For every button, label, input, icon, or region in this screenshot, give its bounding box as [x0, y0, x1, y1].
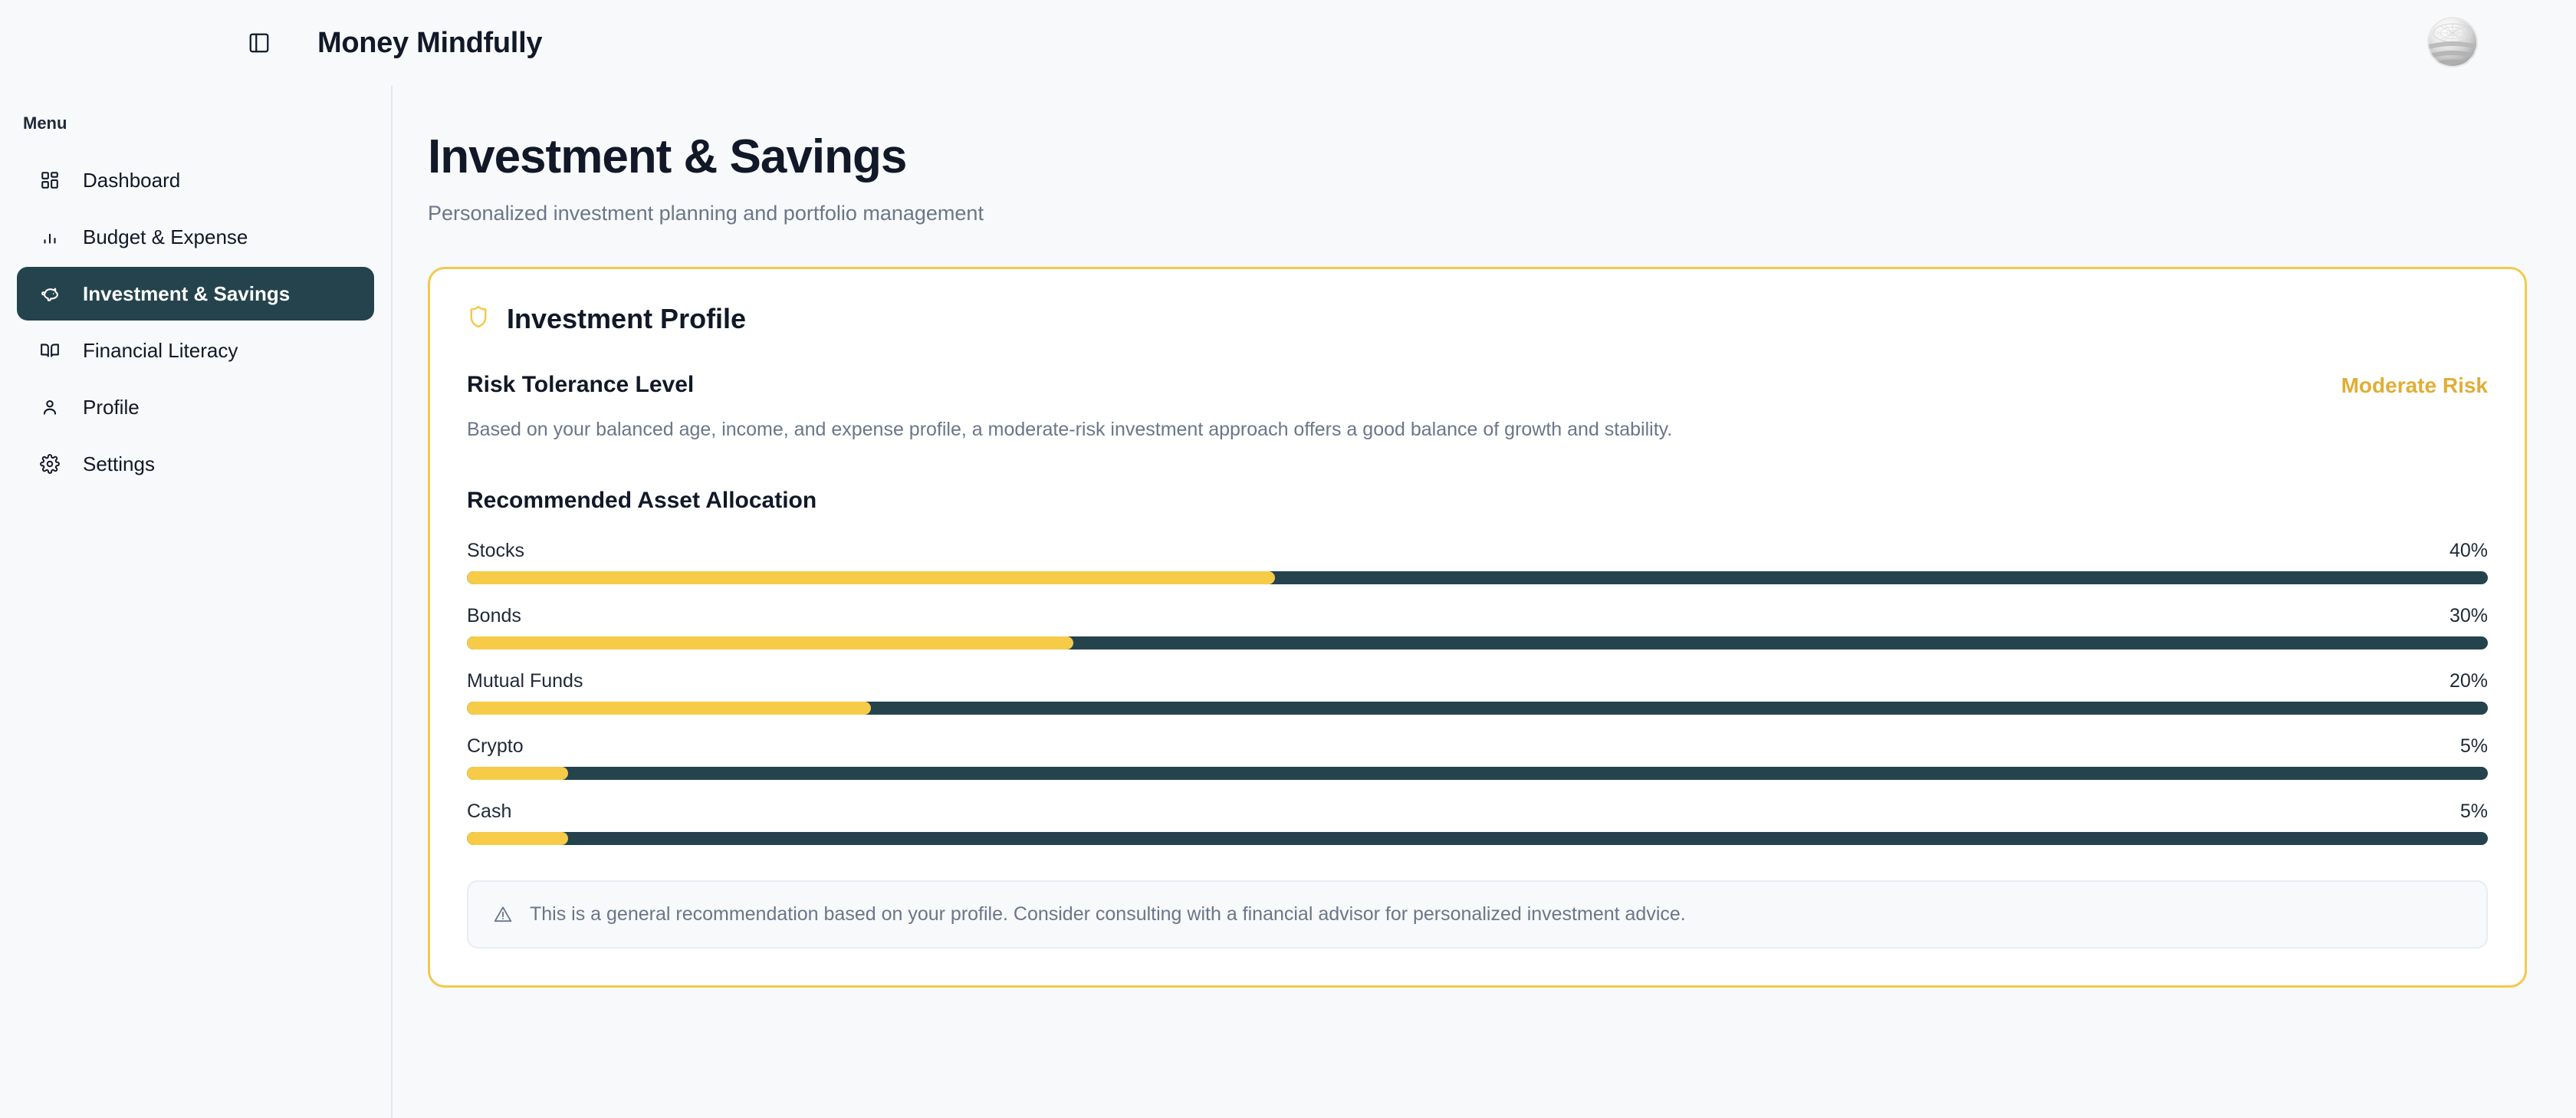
allocation-percent: 30% — [2449, 605, 2488, 627]
allocation-bar-track — [467, 702, 2488, 715]
sidebar-item-label: Dashboard — [83, 169, 180, 192]
allocation-bar-track — [467, 767, 2488, 780]
risk-level-badge: Moderate Risk — [2341, 372, 2488, 398]
asset-allocation-list: Stocks 40% Bonds 30% Mutual Funds — [467, 540, 2488, 845]
top-bar: Money Mindfully — [0, 0, 2576, 86]
sidebar-item-settings[interactable]: Settings — [17, 437, 374, 491]
gear-icon — [37, 451, 63, 477]
sidebar-item-investment-savings[interactable]: Investment & Savings — [17, 267, 374, 321]
sidebar: Menu Dashboard Budget & Expense — [0, 86, 393, 1118]
allocation-bar-fill — [467, 702, 871, 715]
brand-title: Money Mindfully — [317, 27, 542, 60]
allocation-row: Cash 5% — [467, 801, 2488, 845]
card-title: Investment Profile — [507, 303, 746, 335]
sidebar-item-budget-expense[interactable]: Budget & Expense — [17, 210, 374, 264]
bar-chart-icon — [37, 224, 63, 250]
grid-icon — [37, 167, 63, 193]
allocation-percent: 5% — [2460, 735, 2488, 758]
user-icon — [37, 394, 63, 420]
risk-tolerance-title: Risk Tolerance Level — [467, 372, 694, 398]
allocation-bar-track — [467, 636, 2488, 649]
investment-profile-card: Investment Profile Risk Tolerance Level … — [428, 267, 2527, 988]
allocation-row: Mutual Funds 20% — [467, 670, 2488, 715]
piggy-bank-icon — [37, 281, 63, 307]
main-content: Investment & Savings Personalized invest… — [393, 86, 2576, 1118]
sidebar-item-dashboard[interactable]: Dashboard — [17, 153, 374, 207]
allocation-bar-fill — [467, 767, 568, 780]
allocation-bar-fill — [467, 571, 1275, 584]
allocation-row: Crypto 5% — [467, 735, 2488, 780]
sidebar-item-label: Settings — [83, 452, 155, 476]
page-subtitle: Personalized investment planning and por… — [419, 202, 2512, 225]
allocation-label: Bonds — [467, 605, 521, 627]
card-header: Investment Profile — [467, 303, 2488, 335]
sidebar-item-label: Profile — [83, 396, 140, 419]
risk-tolerance-row: Risk Tolerance Level Moderate Risk — [467, 372, 2488, 398]
allocation-label: Cash — [467, 801, 511, 823]
allocation-bar-track — [467, 832, 2488, 845]
sidebar-item-label: Financial Literacy — [83, 339, 238, 363]
book-open-icon — [37, 337, 63, 363]
allocation-row: Bonds 30% — [467, 605, 2488, 649]
top-bar-left: Money Mindfully — [0, 27, 542, 60]
avatar[interactable] — [2427, 17, 2478, 67]
risk-tolerance-description: Based on your balanced age, income, and … — [467, 416, 2488, 443]
asset-allocation-title: Recommended Asset Allocation — [467, 488, 2488, 514]
disclaimer-text: This is a general recommendation based o… — [530, 903, 1686, 926]
allocation-percent: 5% — [2460, 801, 2488, 823]
allocation-bar-fill — [467, 832, 568, 845]
allocation-bar-fill — [467, 636, 1073, 649]
sidebar-panel-icon[interactable] — [244, 28, 274, 58]
sidebar-item-financial-literacy[interactable]: Financial Literacy — [17, 324, 374, 377]
sidebar-item-label: Budget & Expense — [83, 225, 248, 249]
page-title: Investment & Savings — [419, 132, 2512, 183]
sidebar-item-profile[interactable]: Profile — [17, 380, 374, 434]
warning-triangle-icon — [493, 904, 514, 924]
allocation-percent: 40% — [2449, 540, 2488, 562]
allocation-percent: 20% — [2449, 670, 2488, 692]
allocation-label: Stocks — [467, 540, 524, 562]
allocation-label: Crypto — [467, 735, 524, 758]
allocation-row: Stocks 40% — [467, 540, 2488, 584]
sidebar-group-label: Menu — [0, 113, 391, 133]
disclaimer-note: This is a general recommendation based o… — [467, 880, 2488, 949]
allocation-label: Mutual Funds — [467, 670, 583, 692]
sidebar-item-label: Investment & Savings — [83, 282, 290, 306]
allocation-bar-track — [467, 571, 2488, 584]
shield-icon — [467, 304, 490, 333]
